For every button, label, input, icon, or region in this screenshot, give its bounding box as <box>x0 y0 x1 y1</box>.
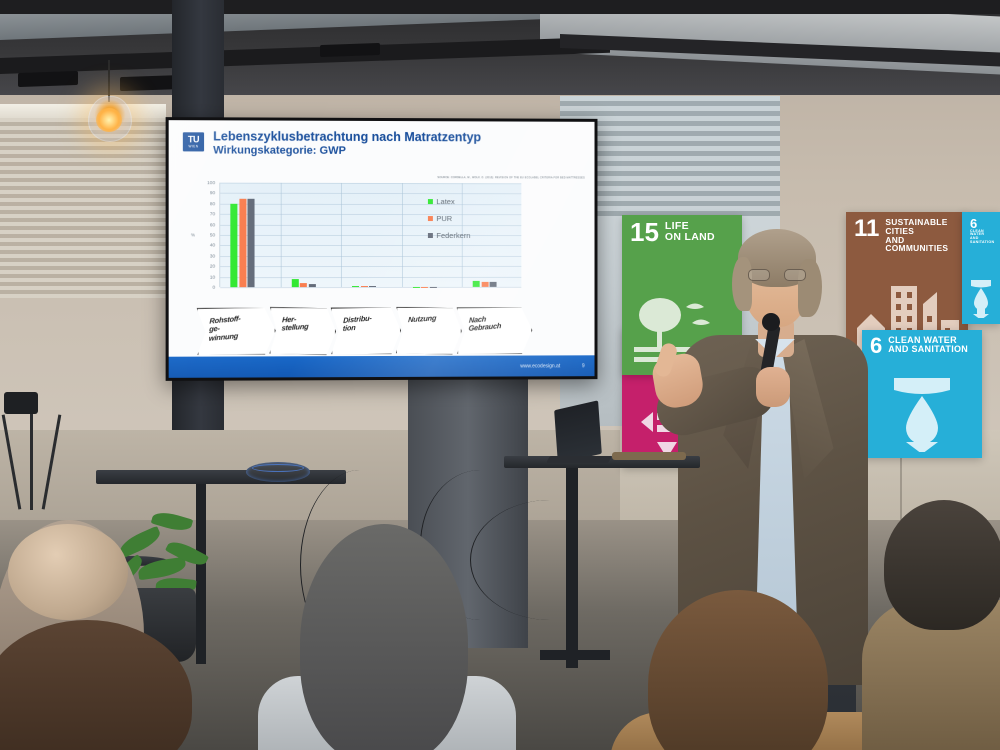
y-tick-100: 100 <box>207 180 215 185</box>
legend-label-federkern: Federkern <box>436 231 470 240</box>
bar-latex-3 <box>352 286 359 287</box>
microphone-led-ring <box>252 464 304 472</box>
bar-pur-3 <box>361 286 368 287</box>
chart-legend: Latex PUR Federkern <box>428 197 470 248</box>
bar-federkern-1 <box>248 198 255 287</box>
notebook-on-desk <box>612 452 686 460</box>
slide-subtitle: Wirkungskategorie: GWP <box>213 144 346 157</box>
audience-member-1-scalp <box>8 524 128 620</box>
audience-member-5-head <box>884 500 1000 630</box>
bar-latex-1 <box>231 204 238 288</box>
stage-text-1: Rohstoff- ge- winnung <box>209 313 262 343</box>
sdg-15-number: 15 <box>630 221 659 244</box>
water-glass-icon-small <box>962 276 1000 318</box>
sdg-11-line1: SUSTAINABLE CITIES <box>885 218 960 236</box>
stage-text-2: Her- stellung <box>281 314 322 333</box>
gwp-bar-chart: % 100 90 80 70 60 50 40 30 20 10 0 <box>191 183 521 304</box>
camera-icon <box>4 392 38 414</box>
legend-label-latex: Latex <box>436 197 454 206</box>
tu-logo-bottom: WIEN <box>188 144 198 148</box>
bar-federkern-5 <box>490 282 497 287</box>
bar-latex-5 <box>473 281 480 287</box>
standing-desk-foot <box>540 650 610 660</box>
plot-area <box>219 183 521 288</box>
speaker-hair-left <box>732 257 752 311</box>
footer-page-number: 9 <box>582 363 585 369</box>
slide-source-note: SOURCE: CORDELLA, M., WOLF, O. (2013): R… <box>438 176 585 179</box>
laptop-keyboard[interactable] <box>546 456 612 463</box>
ceiling-edge <box>0 0 1000 14</box>
stage-chevron-rohstoffgewinnung: Rohstoff- ge- winnung <box>197 307 277 357</box>
bar-group-herstellung <box>292 279 316 287</box>
y-tick-20: 20 <box>210 264 215 269</box>
footer-website-url: www.ecodesign.at <box>520 363 560 369</box>
ceiling-light-3 <box>320 43 380 57</box>
stage-chevron-nachgebrauch: Nach Gebrauch <box>457 306 533 355</box>
bar-federkern-2 <box>309 284 316 287</box>
y-tick-10: 10 <box>210 274 215 279</box>
slide-footer: www.ecodesign.at 9 <box>169 355 595 378</box>
legend-swatch-federkern <box>428 233 432 237</box>
microphone-head-icon <box>762 313 780 331</box>
stage-text-3: Distribu- tion <box>343 313 388 334</box>
bar-group-rohstoffgewinnung <box>231 198 255 287</box>
y-tick-70: 70 <box>210 211 215 216</box>
stage-chevron-distribution: Distribu- tion <box>331 306 402 355</box>
legend-item-latex: Latex <box>428 197 470 206</box>
y-tick-50: 50 <box>210 232 215 237</box>
glasses-icon <box>748 269 806 281</box>
slide: TU WIEN Lebenszyklusbetrachtung nach Mat… <box>169 120 595 378</box>
tu-wien-logo-icon: TU WIEN <box>183 132 204 151</box>
sdg-6-line2: AND SANITATION <box>888 345 968 354</box>
bar-pur-1 <box>239 198 246 287</box>
y-axis: % 100 90 80 70 60 50 40 30 20 10 0 <box>191 183 217 288</box>
bar-federkern-3 <box>369 286 376 287</box>
stage-chevron-herstellung: Her- stellung <box>269 307 336 356</box>
stage-chevron-nutzung: Nutzung <box>396 307 462 355</box>
legend-swatch-pur <box>428 216 432 220</box>
speaker-mic-hand <box>756 367 790 407</box>
sdg-6-partial-number: 6 <box>970 218 992 230</box>
bar-latex-2 <box>292 279 299 287</box>
sdg-poster-6-partial: 6 CLEAN WATER AND SANITATION <box>962 212 1000 324</box>
sdg-11-line2: AND COMMUNITIES <box>885 236 960 254</box>
sdg-6-partial-line2: AND SANITATION <box>970 237 992 245</box>
legend-item-pur: PUR <box>428 214 470 223</box>
camera-tripod <box>4 400 60 510</box>
legend-label-pur: PUR <box>436 214 452 223</box>
y-axis-unit-label: % <box>191 232 195 237</box>
y-tick-90: 90 <box>210 191 215 196</box>
window-blinds-left <box>0 118 180 298</box>
ceiling-light-1 <box>18 71 78 87</box>
stage-text-4: Nutzung <box>408 314 448 325</box>
bar-group-nachgebrauch <box>473 281 497 287</box>
presentation-screen[interactable]: TU WIEN Lebenszyklusbetrachtung nach Mat… <box>166 117 598 381</box>
photo-scene: 10 15 LIFE ON LAND <box>0 0 1000 750</box>
bar-group-distribution <box>352 286 376 287</box>
stage-text-5: Nach Gebrauch <box>468 313 518 334</box>
slide-title: Lebenszyklusbetrachtung nach Matratzenty… <box>213 129 584 144</box>
y-tick-60: 60 <box>210 222 215 227</box>
bar-pur-2 <box>300 283 307 287</box>
speaker-hair-right <box>798 259 822 317</box>
bar-pur-5 <box>481 282 488 287</box>
y-tick-80: 80 <box>210 201 215 206</box>
tu-logo-top: TU <box>188 135 199 144</box>
y-tick-40: 40 <box>210 243 215 248</box>
lifecycle-stage-labels: Rohstoff- ge- winnung Her- stellung Dist… <box>197 307 517 358</box>
legend-swatch-latex <box>428 199 432 204</box>
audience-member-3-head <box>300 524 468 750</box>
y-tick-30: 30 <box>210 253 215 258</box>
laptop-screen[interactable] <box>554 400 602 463</box>
y-tick-0: 0 <box>213 285 216 290</box>
pendant-lamp-glow <box>96 108 122 132</box>
legend-item-federkern: Federkern <box>428 231 470 240</box>
